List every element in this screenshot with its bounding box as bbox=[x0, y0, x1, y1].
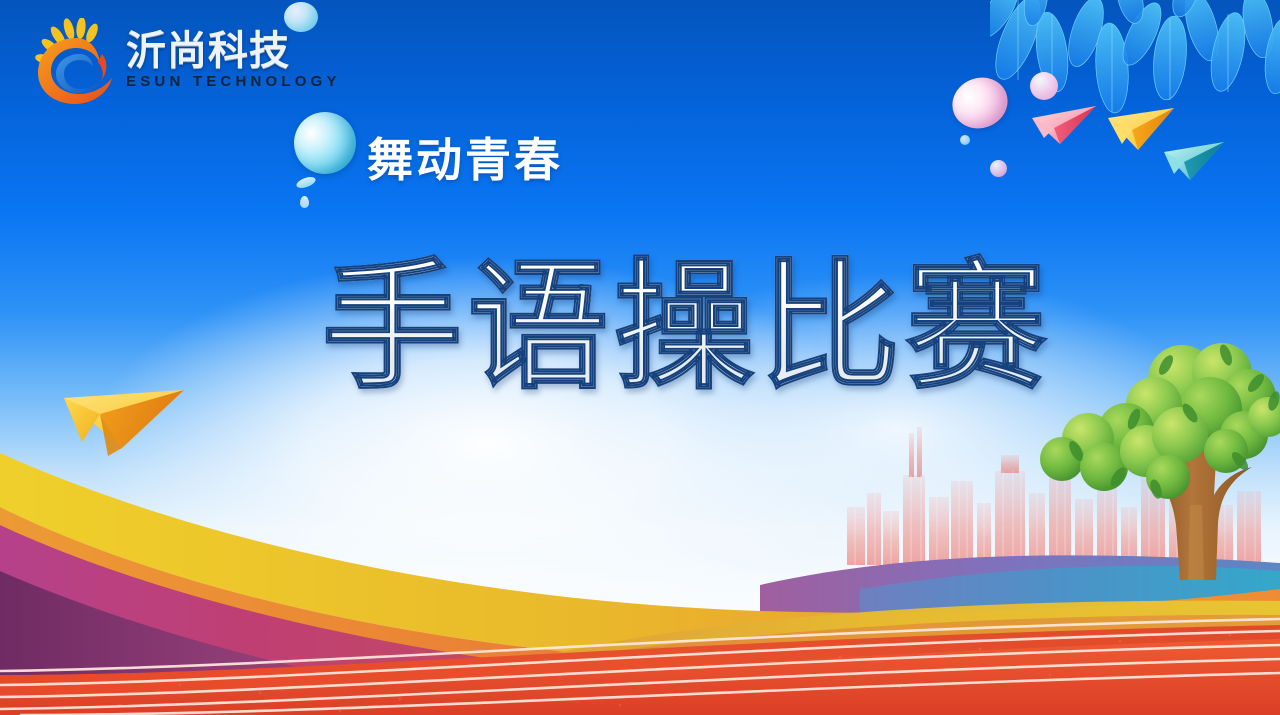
cyan-balloon-small-icon bbox=[284, 2, 318, 32]
brand-name-en: ESUN TECHNOLOGY bbox=[126, 74, 341, 89]
cyan-bubble-tiny-icon bbox=[295, 175, 317, 190]
cyan-balloon-icon bbox=[286, 104, 364, 182]
poster-subtitle: 舞动青春 bbox=[367, 124, 563, 190]
green-tree-icon bbox=[1030, 335, 1280, 580]
pink-bubble-small-icon bbox=[990, 160, 1007, 177]
plane-pink-icon bbox=[1030, 104, 1100, 152]
water-drop-icon bbox=[300, 196, 309, 208]
poster-canvas: 沂尚科技 ESUN TECHNOLOGY bbox=[0, 0, 1280, 715]
brand-logo[interactable]: 沂尚科技 ESUN TECHNOLOGY bbox=[30, 18, 341, 106]
brand-name-cn: 沂尚科技 bbox=[126, 31, 341, 71]
esun-sun-swirl-icon bbox=[30, 18, 120, 106]
pink-bubble-icon bbox=[1030, 72, 1058, 100]
plane-teal-icon bbox=[1162, 140, 1228, 186]
blue-bubble-tiny-icon bbox=[960, 135, 970, 145]
